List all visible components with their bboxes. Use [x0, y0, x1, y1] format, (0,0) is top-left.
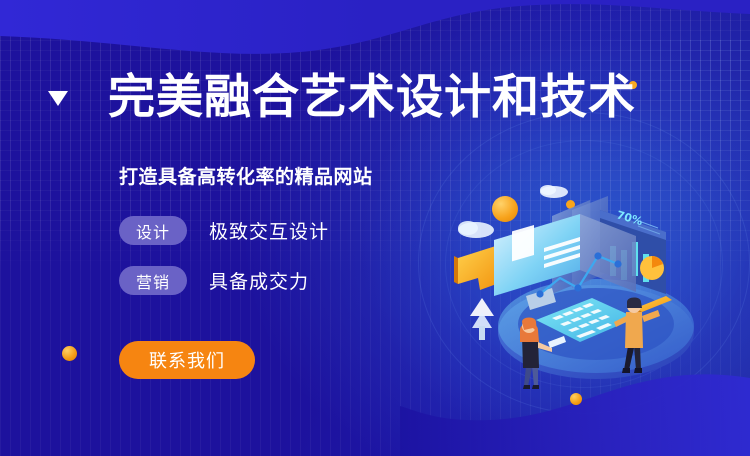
- contact-us-button[interactable]: 联系我们: [119, 341, 255, 379]
- feature-label-design: 极致交互设计: [209, 217, 329, 244]
- page-subtitle: 打造具备高转化率的精品网站: [119, 162, 373, 189]
- hero-banner: 70%: [0, 0, 750, 456]
- status-badge-design: 设计: [119, 216, 187, 245]
- feature-item-design: 设计 极致交互设计: [119, 216, 329, 245]
- status-badge-marketing: 营销: [119, 266, 187, 295]
- isometric-workspace-illustration: 70%: [440, 170, 750, 400]
- banner-content: 完美融合艺术设计和技术 打造具备高转化率的精品网站 设计 极致交互设计 营销 具…: [0, 0, 460, 456]
- triangle-down-icon: [48, 91, 68, 106]
- page-title: 完美融合艺术设计和技术: [108, 74, 636, 121]
- feature-item-marketing: 营销 具备成交力: [119, 266, 309, 295]
- feature-label-marketing: 具备成交力: [209, 267, 309, 294]
